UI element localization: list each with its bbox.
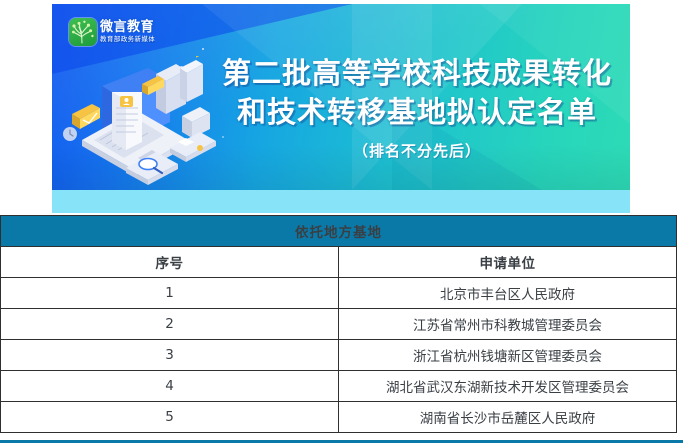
table-row: 1 北京市丰台区人民政府 (1, 278, 677, 309)
site-logo[interactable]: 微言教育 教育部政务新媒体 (69, 16, 155, 48)
column-header-unit: 申请单位 (339, 247, 677, 278)
row-no: 1 (1, 278, 339, 309)
banner-title-line-1: 第二批高等学校科技成果转化 (212, 54, 622, 93)
table-caption-row: 依托地方基地 (1, 216, 677, 247)
banner-title-block: 第二批高等学校科技成果转化 和技术转移基地拟认定名单 （排名不分先后） (212, 54, 622, 161)
table-row: 5 湖南省长沙市岳麓区人民政府 (1, 402, 677, 433)
logo-text-group: 微言教育 教育部政务新媒体 (100, 21, 155, 43)
row-no: 5 (1, 402, 339, 433)
column-header-no: 序号 (1, 247, 339, 278)
row-unit: 湖北省武汉东湖新技术开发区管理委员会 (339, 371, 677, 402)
row-unit: 北京市丰台区人民政府 (339, 278, 677, 309)
row-unit: 江苏省常州市科教城管理委员会 (339, 309, 677, 340)
table-row: 4 湖北省武汉东湖新技术开发区管理委员会 (1, 371, 677, 402)
row-no: 3 (1, 340, 339, 371)
laptop-documents-isometric-illustration (60, 56, 220, 186)
table-caption: 依托地方基地 (1, 216, 677, 247)
approved-bases-table: 依托地方基地 序号 申请单位 1 北京市丰台区人民政府 2 江苏省常州市科教城管… (0, 215, 677, 433)
dandelion-logo-icon (69, 18, 97, 46)
table-header-row: 序号 申请单位 (1, 247, 677, 278)
row-unit: 湖南省长沙市岳麓区人民政府 (339, 402, 677, 433)
banner-artwork: 微言教育 教育部政务新媒体 (52, 4, 630, 190)
banner: 微言教育 教育部政务新媒体 (52, 4, 630, 213)
row-no: 2 (1, 309, 339, 340)
row-no: 4 (1, 371, 339, 402)
logo-subtitle: 教育部政务新媒体 (100, 36, 155, 43)
banner-title-line-2: 和技术转移基地拟认定名单 (212, 93, 622, 132)
banner-subtitle: （排名不分先后） (212, 140, 622, 161)
banner-cyan-strip (52, 190, 630, 213)
page-root: 微言教育 教育部政务新媒体 (0, 0, 683, 443)
sparkle-dot (202, 48, 204, 50)
table-row: 3 浙江省杭州钱塘新区管理委员会 (1, 340, 677, 371)
logo-title: 微言教育 (100, 21, 155, 35)
table-row: 2 江苏省常州市科教城管理委员会 (1, 309, 677, 340)
row-unit: 浙江省杭州钱塘新区管理委员会 (339, 340, 677, 371)
